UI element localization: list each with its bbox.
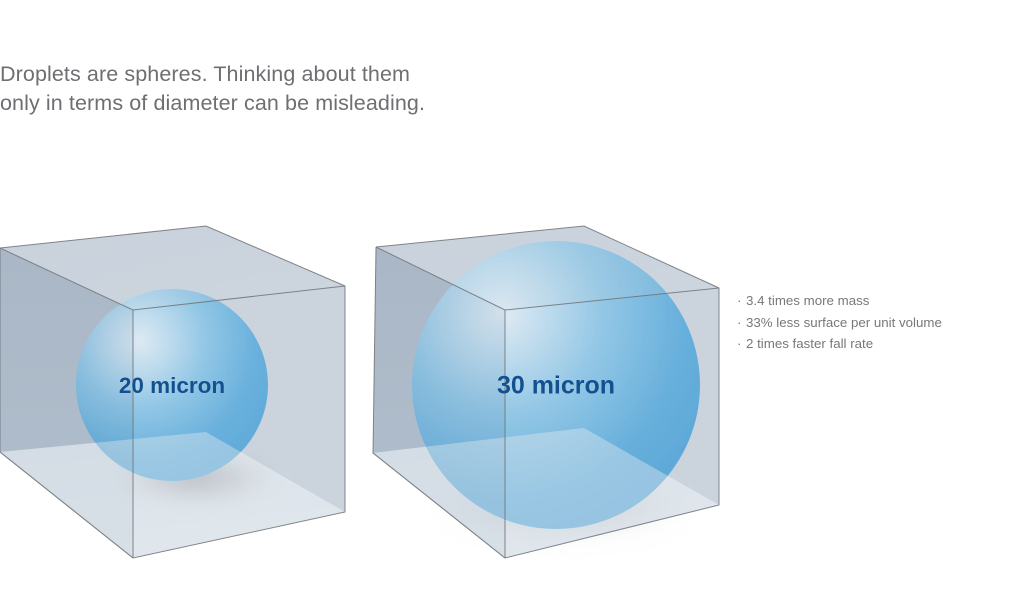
sphere-label-20-micron: 20 micron — [119, 373, 225, 399]
figure-canvas: Droplets are spheres. Thinking about the… — [0, 0, 1024, 589]
bullet-icon: · — [737, 333, 746, 355]
comparison-list: · 3.4 times more mass · 33% less surface… — [737, 290, 1017, 355]
sphere-label-30-micron: 30 micron — [497, 372, 615, 401]
bullet-icon: · — [737, 312, 746, 334]
list-item-label: 2 times faster fall rate — [746, 333, 1017, 355]
bullet-icon: · — [737, 290, 746, 312]
list-item-label: 33% less surface per unit volume — [746, 312, 1017, 334]
list-item: · 3.4 times more mass — [737, 290, 1017, 312]
list-item-label: 3.4 times more mass — [746, 290, 1017, 312]
list-item: · 33% less surface per unit volume — [737, 312, 1017, 334]
list-item: · 2 times faster fall rate — [737, 333, 1017, 355]
